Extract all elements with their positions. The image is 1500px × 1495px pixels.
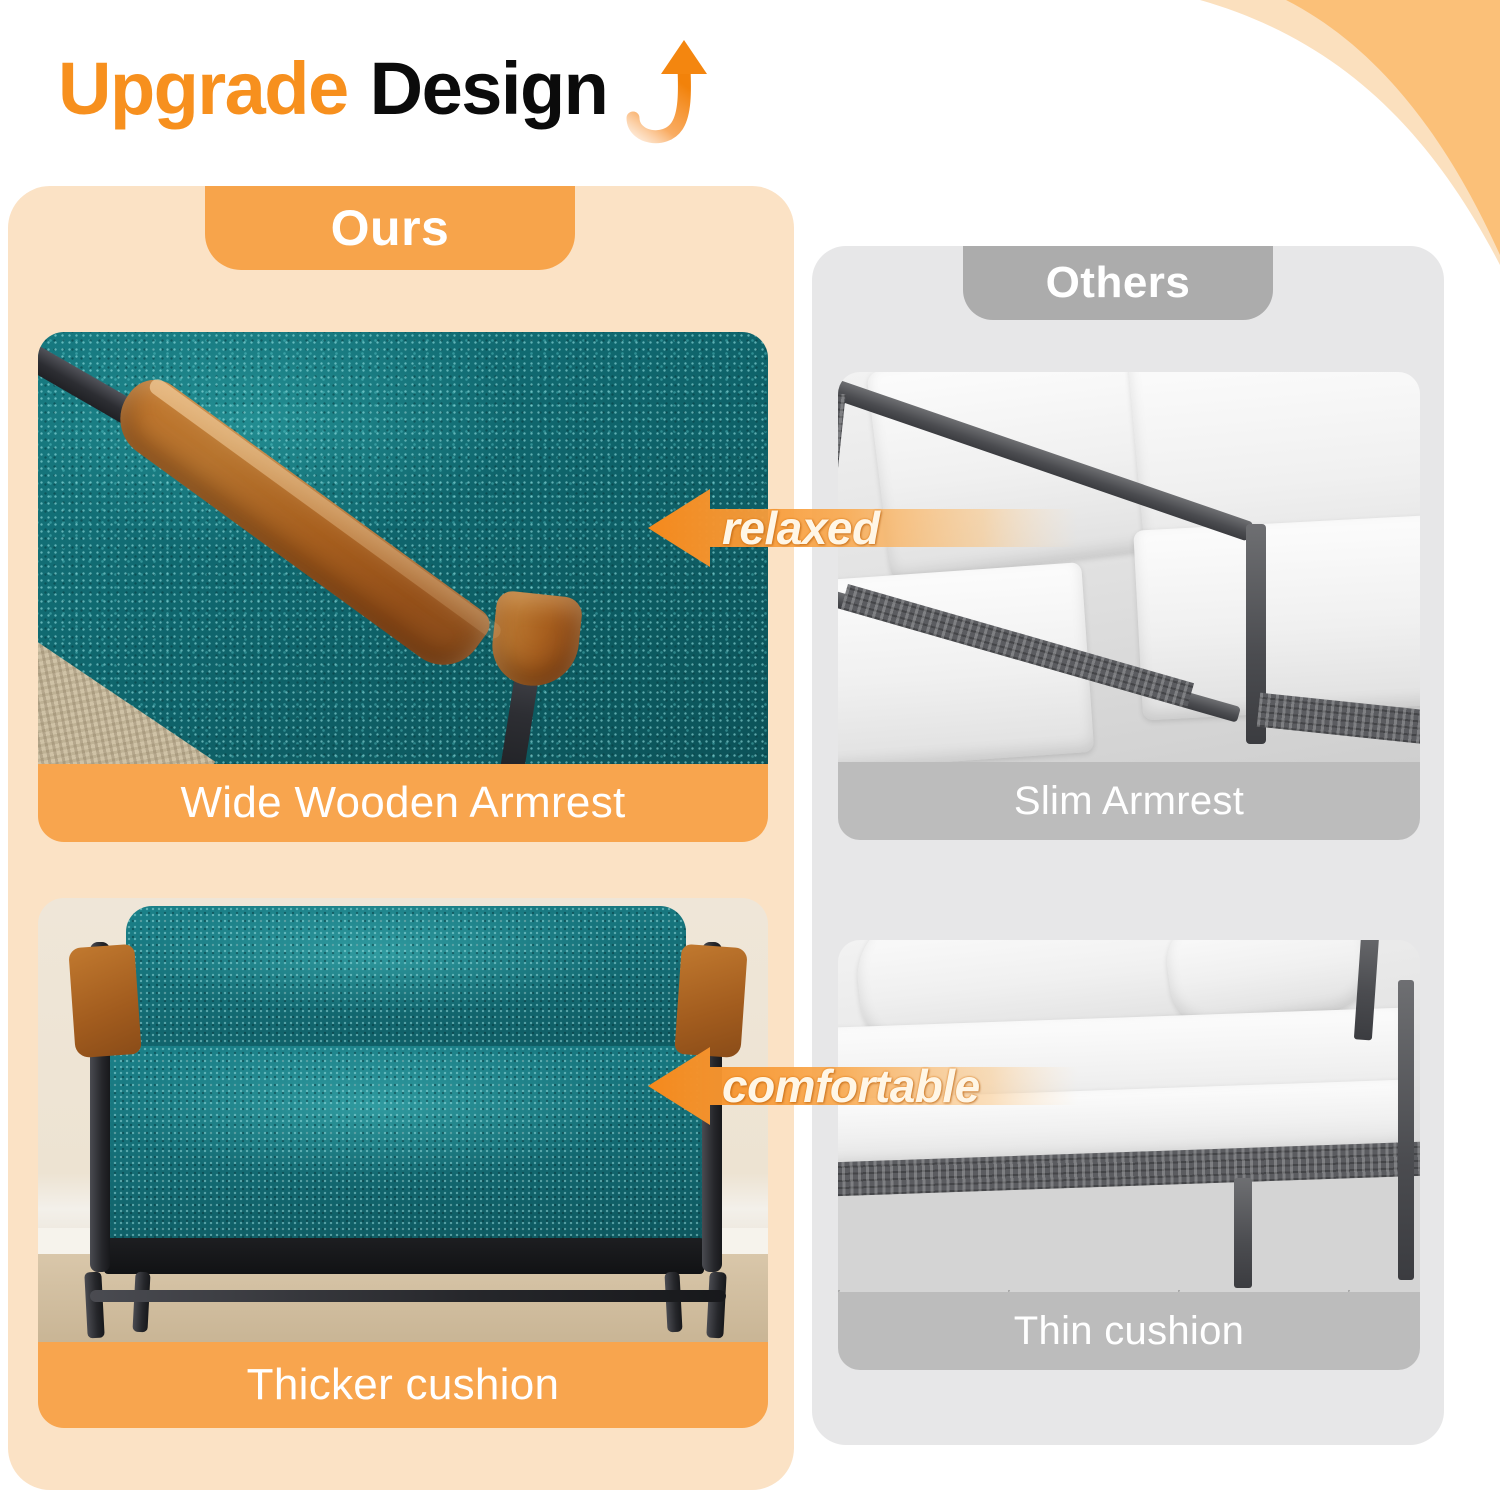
caption-thin-cushion: Thin cushion xyxy=(838,1292,1420,1370)
photo-wide-wooden-armrest xyxy=(38,332,768,764)
curved-up-arrow-icon xyxy=(623,34,719,144)
card-ours-thicker-cushion: Thicker cushion xyxy=(38,898,768,1428)
caption-text: Wide Wooden Armrest xyxy=(180,778,625,828)
photo-slim-armrest xyxy=(838,372,1420,762)
caption-text: Thin cushion xyxy=(1014,1309,1244,1354)
tab-others-label: Others xyxy=(1046,258,1191,308)
tab-ours-label: Ours xyxy=(331,199,450,257)
title-word-upgrade: Upgrade xyxy=(58,52,348,126)
tab-others[interactable]: Others xyxy=(963,246,1273,320)
page-title: Upgrade Design xyxy=(58,52,719,144)
caption-text: Slim Armrest xyxy=(1014,779,1244,824)
card-ours-wide-wooden-armrest: Wide Wooden Armrest xyxy=(38,332,768,842)
caption-text: Thicker cushion xyxy=(247,1360,560,1410)
card-others-thin-cushion: Thin cushion xyxy=(838,940,1420,1370)
card-others-slim-armrest: Slim Armrest xyxy=(838,372,1420,840)
tab-ours[interactable]: Ours xyxy=(205,186,575,270)
photo-thin-cushion xyxy=(838,940,1420,1292)
caption-thicker-cushion: Thicker cushion xyxy=(38,1342,768,1428)
infographic-page: Upgrade Design Ours xyxy=(0,0,1500,1495)
title-word-design: Design xyxy=(370,52,608,126)
photo-thicker-cushion xyxy=(38,898,768,1342)
caption-slim-armrest: Slim Armrest xyxy=(838,762,1420,840)
caption-wide-wooden-armrest: Wide Wooden Armrest xyxy=(38,764,768,842)
